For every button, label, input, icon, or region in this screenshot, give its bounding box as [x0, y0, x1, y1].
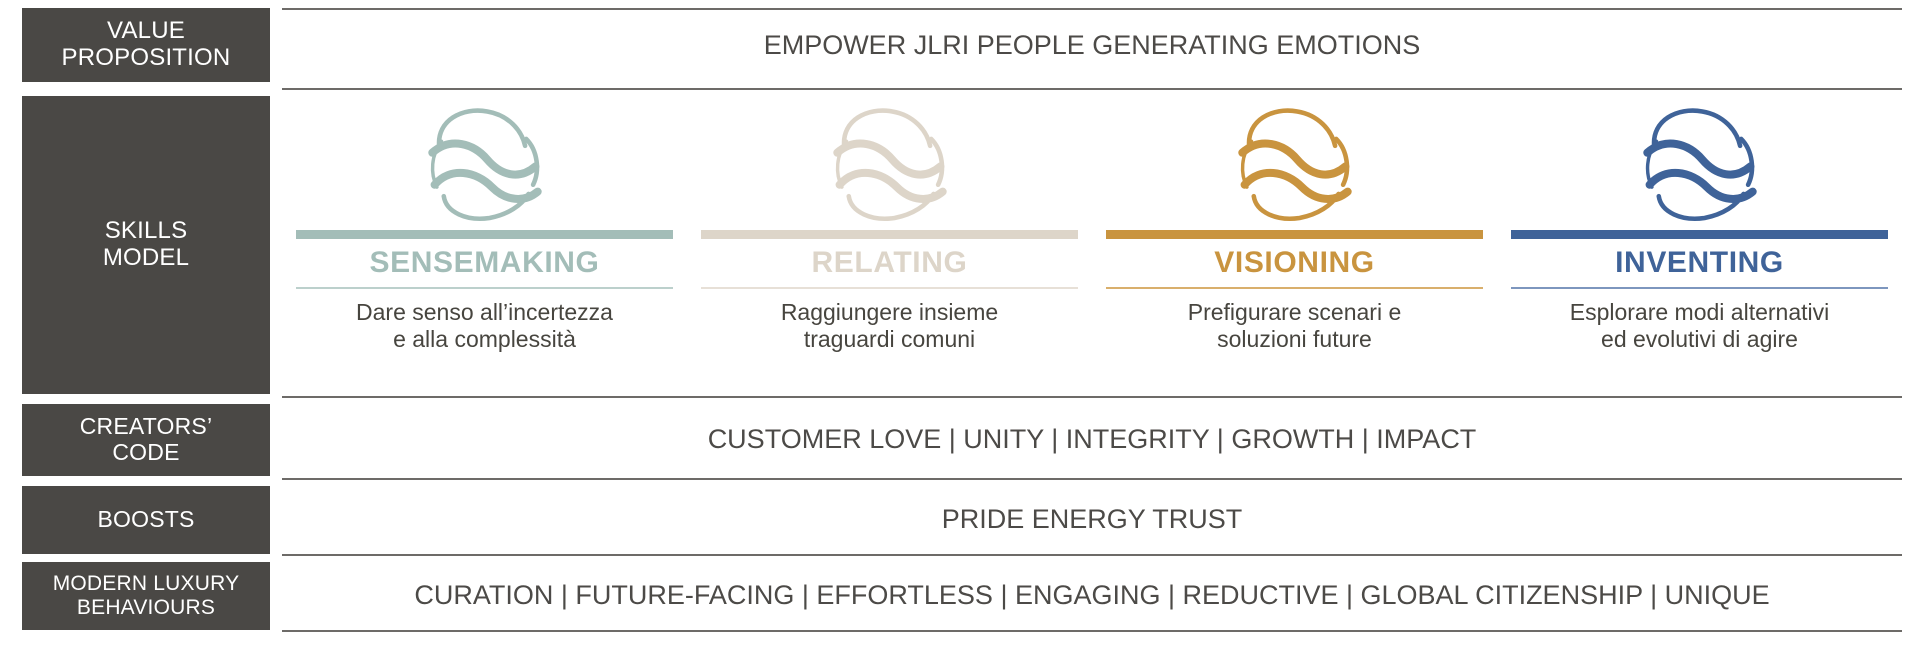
row-creators-code: CREATORS’ CODE CUSTOMER LOVE | UNITY | I… — [0, 404, 1920, 476]
skill-column-inventing[interactable]: INVENTING Esplorare modi alternativi ed … — [1497, 96, 1902, 394]
row-value-proposition: VALUE PROPOSITION EMPOWER JLRI PEOPLE GE… — [0, 8, 1920, 82]
skill-underline — [1106, 287, 1483, 289]
row-body-value-proposition: EMPOWER JLRI PEOPLE GENERATING EMOTIONS — [282, 8, 1902, 82]
row-label-line: MODEL — [103, 245, 189, 272]
modern-luxury-behaviours-text: CURATION | FUTURE-FACING | EFFORTLESS | … — [282, 580, 1902, 611]
skills-framework-board: VALUE PROPOSITION EMPOWER JLRI PEOPLE GE… — [0, 0, 1920, 658]
skill-color-bar — [701, 230, 1078, 239]
divider-bottom — [282, 630, 1902, 632]
skill-underline — [701, 287, 1078, 289]
skills-columns: SENSEMAKING Dare senso all’incertezza e … — [282, 96, 1902, 394]
skill-column-relating[interactable]: RELATING Raggiungere insieme traguardi c… — [687, 96, 1092, 394]
row-label-skills-model: SKILLS MODEL — [22, 96, 270, 394]
row-label-boosts: BOOSTS — [22, 486, 270, 554]
sphere-swoosh-icon — [1625, 100, 1775, 226]
skill-title-inventing: INVENTING — [1615, 248, 1784, 278]
boosts-text: PRIDE ENERGY TRUST — [282, 504, 1902, 535]
value-proposition-text: EMPOWER JLRI PEOPLE GENERATING EMOTIONS — [282, 30, 1902, 61]
skill-underline — [296, 287, 673, 289]
row-modern-luxury-behaviours: MODERN LUXURY BEHAVIOURS CURATION | FUTU… — [0, 562, 1920, 630]
divider-value-bottom — [282, 88, 1902, 90]
row-body-modern-luxury-behaviours: CURATION | FUTURE-FACING | EFFORTLESS | … — [282, 562, 1902, 630]
skill-column-sensemaking[interactable]: SENSEMAKING Dare senso all’incertezza e … — [282, 96, 687, 394]
divider-boosts-bottom — [282, 554, 1902, 556]
sphere-swoosh-icon — [410, 100, 560, 226]
row-label-line: CREATORS’ — [80, 414, 213, 440]
skill-color-bar — [1106, 230, 1483, 239]
skill-description-inventing: Esplorare modi alternativi ed evolutivi … — [1570, 299, 1830, 352]
row-label-line: VALUE — [62, 18, 231, 45]
skill-title-visioning: VISIONING — [1214, 248, 1374, 278]
divider-top — [282, 8, 1902, 10]
skill-color-bar — [1511, 230, 1888, 239]
sphere-swoosh-icon — [815, 100, 965, 226]
skill-underline — [1511, 287, 1888, 289]
row-label-line: BEHAVIOURS — [53, 596, 240, 620]
skill-title-sensemaking: SENSEMAKING — [370, 248, 600, 278]
row-label-line: BOOSTS — [97, 507, 194, 533]
row-body-creators-code: CUSTOMER LOVE | UNITY | INTEGRITY | GROW… — [282, 404, 1902, 476]
skill-color-bar — [296, 230, 673, 239]
row-body-boosts: PRIDE ENERGY TRUST — [282, 486, 1902, 554]
sphere-swoosh-icon — [1220, 100, 1370, 226]
skill-description-relating: Raggiungere insieme traguardi comuni — [781, 299, 998, 352]
row-label-line: CODE — [80, 440, 213, 466]
row-label-line: SKILLS — [103, 218, 189, 245]
divider-skills-bottom — [282, 396, 1902, 398]
row-label-value-proposition: VALUE PROPOSITION — [22, 8, 270, 82]
skill-column-visioning[interactable]: VISIONING Prefigurare scenari e soluzion… — [1092, 96, 1497, 394]
creators-code-text: CUSTOMER LOVE | UNITY | INTEGRITY | GROW… — [282, 424, 1902, 455]
row-label-line: PROPOSITION — [62, 45, 231, 72]
row-boosts: BOOSTS PRIDE ENERGY TRUST — [0, 486, 1920, 554]
divider-creators-bottom — [282, 478, 1902, 480]
row-label-creators-code: CREATORS’ CODE — [22, 404, 270, 476]
skill-title-relating: RELATING — [812, 248, 968, 278]
row-label-line: MODERN LUXURY — [53, 572, 240, 596]
skill-description-sensemaking: Dare senso all’incertezza e alla comples… — [356, 299, 613, 352]
row-label-modern-luxury-behaviours: MODERN LUXURY BEHAVIOURS — [22, 562, 270, 630]
skill-description-visioning: Prefigurare scenari e soluzioni future — [1188, 299, 1402, 352]
